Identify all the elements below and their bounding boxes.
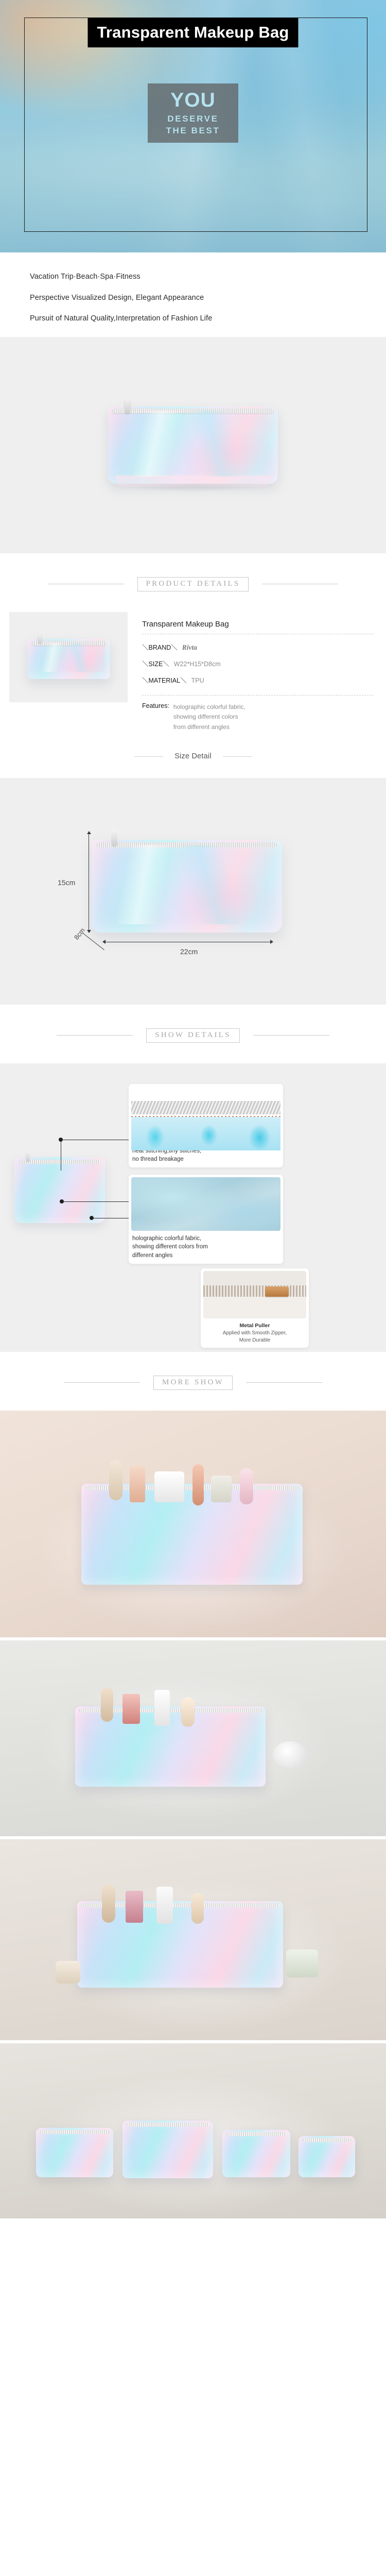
specification-text: Transparent Makeup Bag ＼BRAND＼ Rivta ＼SI… — [128, 612, 386, 733]
makeup-bag-variant — [299, 2136, 355, 2177]
spec-value-material: TPU — [191, 677, 204, 684]
divider-rule-left — [57, 1035, 133, 1036]
spec-product-title: Transparent Makeup Bag — [142, 620, 374, 634]
hero-banner: Transparent Makeup Bag YOU DESERVE THE B… — [0, 0, 386, 252]
metal-puller-icon — [265, 1286, 289, 1297]
specification-panel: Transparent Makeup Bag ＼BRAND＼ Rivta ＼SI… — [0, 612, 386, 733]
callout-leader-1 — [61, 1140, 129, 1140]
page-footer-spacer — [0, 2222, 386, 2231]
spec-row-size: ＼SIZE＼ W22*H15*D8cm — [142, 660, 386, 668]
makeup-bag-render — [108, 406, 278, 484]
hero-title: Transparent Makeup Bag — [87, 18, 298, 47]
gallery-photo-3 — [0, 1839, 386, 2040]
width-arrow-icon — [103, 942, 273, 942]
cosmetic-item — [240, 1468, 253, 1504]
features-body: holographic colorful fabric, showing dif… — [173, 702, 245, 732]
tagline-2: Perspective Visualized Design, Elegant A… — [30, 294, 386, 302]
cosmetic-item — [109, 1460, 122, 1500]
gallery-photo-2 — [0, 1640, 386, 1836]
cosmetic-item — [102, 1885, 115, 1923]
dimension-height: 15cm — [58, 879, 75, 886]
gallery-photo-4 — [0, 2043, 386, 2218]
zipper-teeth — [226, 2132, 286, 2136]
lifestyle-gallery — [0, 1411, 386, 2218]
zipper-teeth — [303, 2138, 351, 2142]
makeup-bag-measured — [92, 840, 282, 933]
callout-leader-2 — [62, 1201, 129, 1202]
cosmetic-item — [273, 1741, 308, 1768]
zipper-teeth — [32, 641, 106, 646]
product-hero-photo — [0, 337, 386, 553]
zipper-pull-icon — [26, 1151, 30, 1162]
divider-rule-left — [64, 1382, 140, 1383]
divider-rule-right — [246, 1382, 322, 1383]
cosmetic-item — [156, 1887, 173, 1924]
slogan-line-3: THE BEST — [148, 126, 238, 135]
cosmetic-item — [122, 1694, 140, 1724]
depth-arrow-icon — [82, 933, 104, 950]
makeup-bag-callout-source — [14, 1157, 105, 1223]
features-line-2: showing different colors — [173, 712, 245, 722]
spec-row-material: ＼MATERIAL＼ TPU — [142, 677, 386, 684]
makeup-bag-variant — [36, 2128, 113, 2177]
dimension-width: 22cm — [180, 948, 198, 955]
height-arrow-icon — [89, 832, 89, 933]
features-line-1: holographic colorful fabric, — [173, 702, 245, 712]
divider-label-show-details: SHOW DETAILS — [146, 1028, 239, 1043]
divider-label-more-show: MORE SHOW — [153, 1376, 233, 1390]
spec-row-brand: ＼BRAND＼ Rivta — [142, 643, 386, 652]
spec-key-size: ＼SIZE＼ — [142, 660, 169, 668]
product-detail-page: Transparent Makeup Bag YOU DESERVE THE B… — [0, 0, 386, 2231]
cosmetic-item — [192, 1464, 204, 1505]
spec-key-brand: ＼BRAND＼ — [142, 644, 178, 651]
divider-rule-right — [223, 756, 252, 757]
tagline-1: Vacation Trip·Beach·Spa·Fitness — [30, 273, 386, 281]
zipper-teeth — [40, 2130, 109, 2134]
callout-dot-icon — [59, 1138, 63, 1142]
callout-card-puller: Metal Puller Applied with Smooth Zipper,… — [201, 1268, 309, 1348]
zipper-teeth-detail — [203, 1285, 306, 1297]
callout-caption-line-1: Metal Puller — [240, 1323, 270, 1329]
size-diagram: 15cm 22cm 8cm — [0, 778, 386, 1005]
gallery-photo-1 — [0, 1411, 386, 1637]
callout-photo-fabric — [131, 1177, 280, 1231]
callout-caption-line-1: holographic colorful fabric, — [132, 1235, 201, 1242]
spec-thumbnail-photo — [9, 612, 128, 702]
callout-caption-puller: Metal Puller Applied with Smooth Zipper,… — [203, 1322, 306, 1345]
fabric-detail — [131, 1117, 280, 1143]
cosmetic-item — [126, 1891, 143, 1923]
hero-slogan-block: YOU DESERVE THE BEST — [148, 83, 238, 143]
divider-more-show: MORE SHOW — [0, 1352, 386, 1411]
features-line-3: from different angles — [173, 722, 245, 732]
divider-rule-left — [48, 584, 124, 584]
cosmetic-item — [101, 1688, 113, 1722]
callout-caption-line-2: no thread breakage — [132, 1156, 184, 1162]
spec-value-brand: Rivta — [182, 643, 197, 652]
divider-rule-right — [262, 584, 338, 584]
callout-caption-line-2: Applied with Smooth Zipper, — [223, 1330, 287, 1336]
slogan-line-1: YOU — [148, 90, 238, 111]
zipper-pull-icon — [38, 634, 42, 643]
callout-photo-stitching — [131, 1087, 280, 1143]
makeup-bag-thumbnail — [28, 639, 110, 679]
cosmetic-item — [191, 1893, 204, 1924]
callout-caption-line-3: More Durable — [239, 1337, 271, 1343]
makeup-bag-variant — [122, 2121, 213, 2178]
spec-features: Features: holographic colorful fabric, s… — [142, 702, 386, 732]
divider-size-detail: Size Detail — [0, 732, 386, 778]
divider-label-size-detail: Size Detail — [174, 753, 212, 760]
hero-haze-overlay — [0, 155, 386, 252]
spec-separator — [142, 695, 374, 696]
callout-caption-fabric: holographic colorful fabric, showing dif… — [131, 1234, 280, 1261]
features-label: Features: — [142, 702, 169, 709]
cosmetic-item — [154, 1690, 170, 1726]
callout-leader-vertical — [61, 1140, 61, 1171]
divider-product-details: PRODUCT DETAILS — [0, 553, 386, 612]
divider-label-product-details: PRODUCT DETAILS — [137, 577, 249, 591]
cosmetic-item — [56, 1961, 80, 1984]
callout-caption-line-3: different angles — [132, 1252, 172, 1259]
cosmetic-item — [211, 1476, 232, 1502]
cosmetic-item — [154, 1471, 184, 1502]
tagline-3: Pursuit of Natural Quality,Interpretatio… — [30, 315, 386, 323]
detail-callout-section: neat stitching,tiny stitches, no thread … — [0, 1063, 386, 1352]
zipper-pull-icon — [111, 829, 117, 847]
cosmetic-item — [286, 1950, 318, 1977]
zipper-teeth — [127, 2123, 209, 2127]
callout-card-fabric: holographic colorful fabric, showing dif… — [129, 1175, 283, 1264]
makeup-bag-variant — [222, 2130, 290, 2177]
zipper-teeth-detail — [131, 1101, 280, 1114]
zipper-pull-icon — [125, 398, 130, 414]
bag-base-highlight — [115, 476, 271, 487]
zipper-teeth — [112, 409, 274, 413]
zipper-teeth — [97, 842, 277, 848]
divider-rule-left — [134, 756, 163, 757]
slogan-line-2: DESERVE — [148, 114, 238, 123]
divider-rule-right — [253, 1035, 329, 1036]
callout-card-stitching: neat stitching,tiny stitches, no thread … — [129, 1084, 283, 1167]
zipper-teeth — [20, 1160, 100, 1164]
callout-caption-line-2: showing different colors from — [132, 1244, 208, 1250]
tagline-list: Vacation Trip·Beach·Spa·Fitness Perspect… — [0, 252, 386, 323]
cosmetic-item — [181, 1697, 195, 1727]
cosmetic-item — [130, 1466, 145, 1502]
dimension-depth: 8cm — [73, 926, 86, 940]
callout-photo-puller — [203, 1271, 306, 1318]
divider-show-details: SHOW DETAILS — [0, 1005, 386, 1063]
spec-key-material: ＼MATERIAL＼ — [142, 677, 187, 684]
spec-value-size: W22*H15*D8cm — [174, 660, 221, 668]
